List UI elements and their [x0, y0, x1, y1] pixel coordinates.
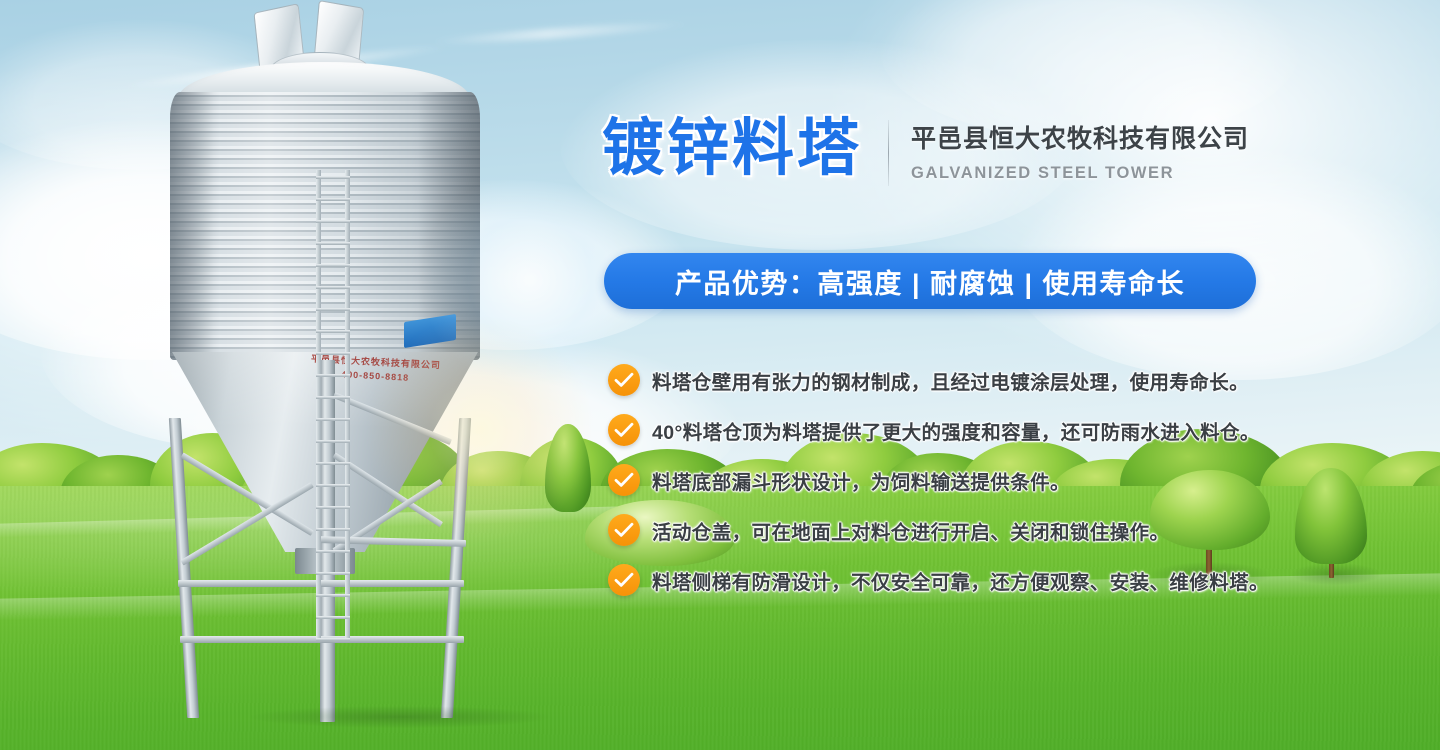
company-block: 平邑县恒大农牧科技有限公司 GALVANIZED STEEL TOWER	[911, 118, 1249, 183]
ladder-rung	[316, 176, 350, 179]
hero-banner: 平邑县恒大农牧科技有限公司 400-850-8818 镀锌料塔	[0, 0, 1440, 750]
grain-silo-image: 平邑县恒大农牧科技有限公司 400-850-8818	[120, 0, 540, 750]
advantage-banner-label: 产品优势：高强度 | 耐腐蚀 | 使用寿命长	[675, 262, 1185, 301]
ladder-rung	[316, 286, 350, 289]
title-row: 镀锌料塔 平邑县恒大农牧科技有限公司 GALVANIZED STEEL TOWE…	[602, 118, 1249, 186]
ladder-rung	[316, 242, 350, 245]
check-icon	[608, 414, 640, 446]
ladder-rung	[316, 330, 350, 333]
ladder-rung	[316, 396, 350, 399]
check-icon	[608, 564, 640, 596]
ladder-rung	[316, 594, 350, 597]
ladder-rung	[316, 440, 350, 443]
feature-text: 料塔仓壁用有张力的钢材制成，且经过电镀涂层处理，使用寿命长。	[652, 366, 1249, 395]
hero-content: 镀锌料塔 平邑县恒大农牧科技有限公司 GALVANIZED STEEL TOWE…	[600, 0, 1440, 750]
title-divider	[888, 120, 889, 186]
feature-item: 料塔仓壁用有张力的钢材制成，且经过电镀涂层处理，使用寿命长。	[608, 355, 1438, 405]
feature-item: 活动仓盖，可在地面上对料仓进行开启、关闭和锁住操作。	[608, 505, 1438, 555]
ladder-stringer	[345, 170, 350, 640]
ladder-rung	[316, 308, 350, 311]
silo-leg	[441, 418, 471, 718]
ladder-rung	[316, 462, 350, 465]
silo-ground-shadow	[250, 706, 550, 728]
ladder-rung	[316, 616, 350, 619]
check-icon	[608, 364, 640, 396]
ladder-rung	[316, 528, 350, 531]
feature-item: 料塔底部漏斗形状设计，为饲料输送提供条件。	[608, 455, 1438, 505]
ladder-rung	[316, 506, 350, 509]
ladder-rung	[316, 264, 350, 267]
feature-text: 料塔侧梯有防滑设计，不仅安全可靠，还方便观察、安装、维修料塔。	[652, 566, 1269, 595]
feature-text: 活动仓盖，可在地面上对料仓进行开启、关闭和锁住操作。	[652, 516, 1169, 545]
ladder-rung	[316, 352, 350, 355]
feature-item: 料塔侧梯有防滑设计，不仅安全可靠，还方便观察、安装、维修料塔。	[608, 555, 1438, 605]
page-title: 镀锌料塔	[602, 118, 862, 180]
ladder-rung	[316, 220, 350, 223]
check-icon	[608, 514, 640, 546]
ladder-rung	[316, 638, 350, 641]
feature-item: 40°料塔仓顶为料塔提供了更大的强度和容量，还可防雨水进入料仓。	[608, 405, 1438, 455]
feature-list: 料塔仓壁用有张力的钢材制成，且经过电镀涂层处理，使用寿命长。40°料塔仓顶为料塔…	[608, 355, 1438, 605]
tree-crown	[545, 424, 591, 512]
feature-text: 料塔底部漏斗形状设计，为饲料输送提供条件。	[652, 466, 1070, 495]
ladder-stringer	[316, 170, 321, 640]
ladder-rung	[316, 418, 350, 421]
ladder-rung	[316, 198, 350, 201]
check-icon	[608, 464, 640, 496]
ladder-rung	[316, 374, 350, 377]
advantage-banner: 产品优势：高强度 | 耐腐蚀 | 使用寿命长	[604, 253, 1256, 309]
ladder-rung	[316, 572, 350, 575]
ladder-rung	[316, 484, 350, 487]
silo-ladder	[316, 170, 350, 640]
company-name-cn: 平邑县恒大农牧科技有限公司	[911, 124, 1249, 154]
ladder-rung	[316, 550, 350, 553]
feature-text: 40°料塔仓顶为料塔提供了更大的强度和容量，还可防雨水进入料仓。	[652, 416, 1260, 445]
company-name-en: GALVANIZED STEEL TOWER	[911, 164, 1249, 183]
